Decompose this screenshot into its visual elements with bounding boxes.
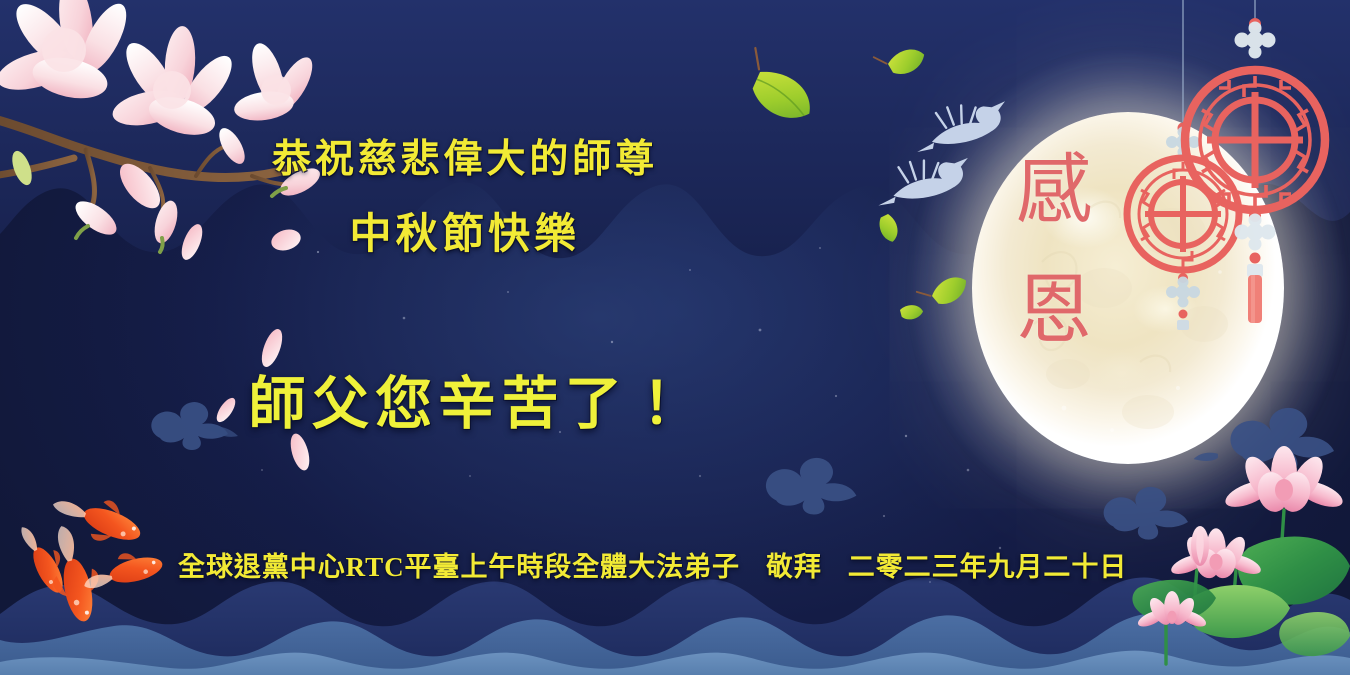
greeting-card: 感 恩 <box>0 0 1350 675</box>
greeting-main-message: 師父您辛苦了！ <box>0 358 940 440</box>
greeting-text-block: 恭祝慈悲偉大的師尊 中秋節快樂 <box>0 136 930 261</box>
signature-organization: 全球退黨中心RTC平臺上午時段全體大法弟子 <box>178 552 740 582</box>
signature-salutation: 敬拜 <box>766 552 822 582</box>
greeting-line-2: 中秋節快樂 <box>0 209 930 262</box>
signature-line: 全球退黨中心RTC平臺上午時段全體大法弟子敬拜二零二三年九月二十日 <box>0 545 1350 584</box>
greeting-line-1: 恭祝慈悲偉大的師尊 <box>0 136 930 185</box>
signature-date: 二零二三年九月二十日 <box>848 552 1127 582</box>
